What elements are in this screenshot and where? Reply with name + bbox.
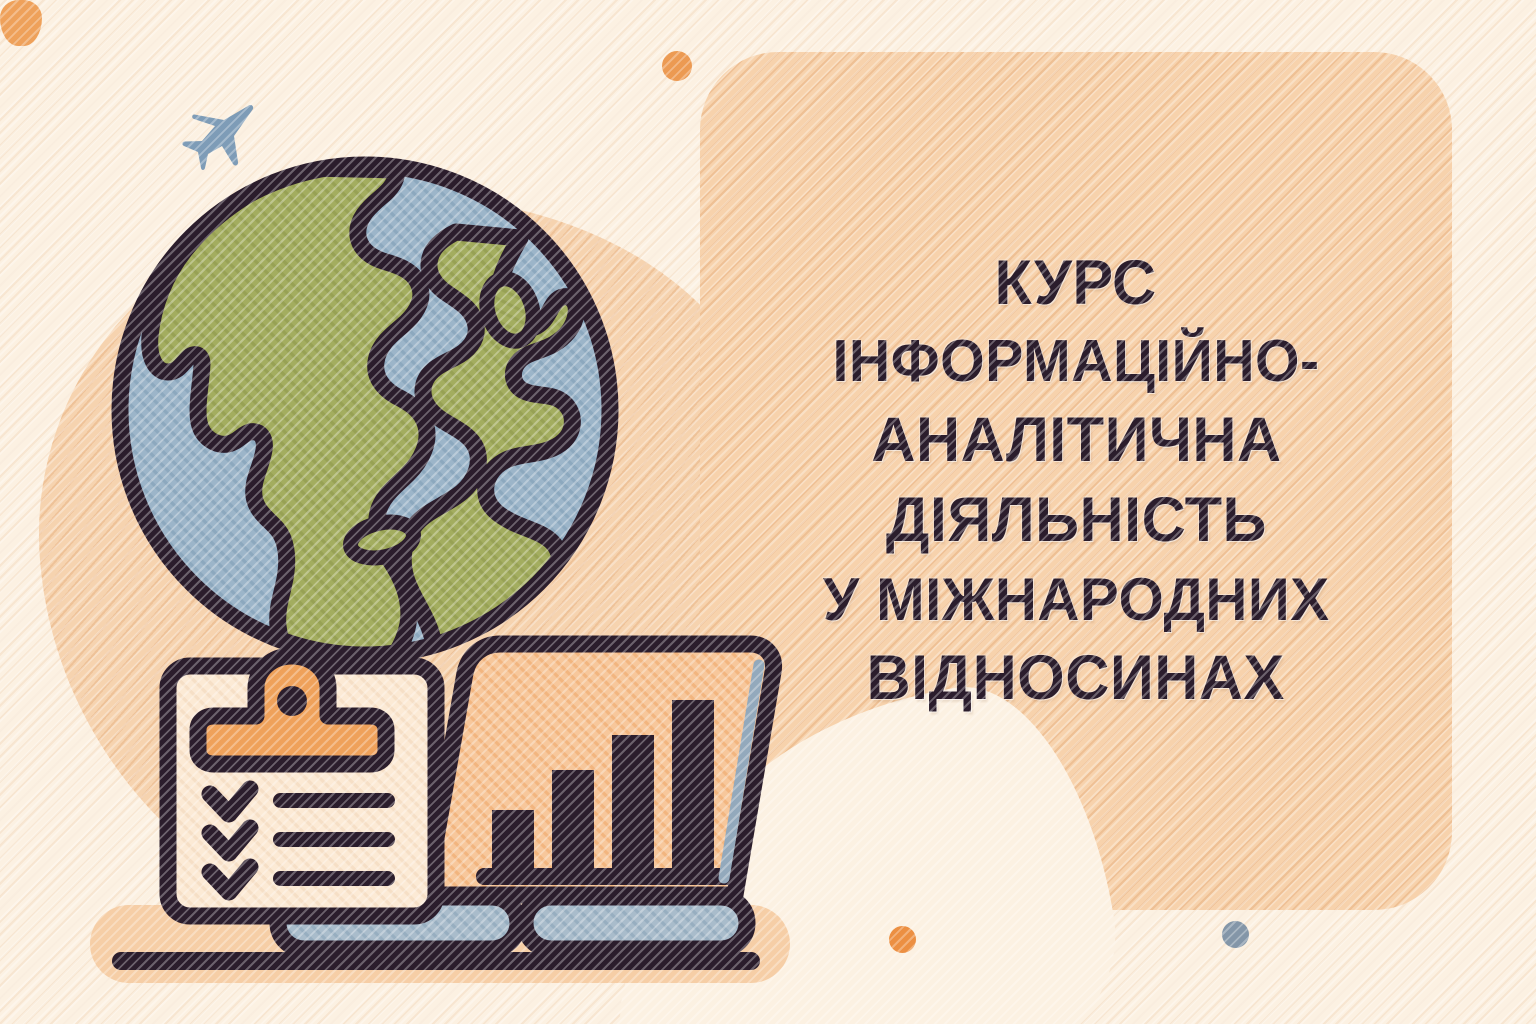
illustration-globe-laptop-clipboard <box>60 120 860 990</box>
chart-baseline <box>476 868 738 885</box>
laptop-screen-body <box>426 644 774 895</box>
clipboard-checklist <box>168 656 436 916</box>
clipboard-clip-hole <box>277 686 307 716</box>
checklist-line-3 <box>273 871 395 886</box>
checklist-line-1 <box>273 793 395 808</box>
title-line-2: ІНФОРМАЦІЙНО- <box>832 326 1319 398</box>
title-line-6: ВІДНОСИНАХ <box>867 640 1285 717</box>
checklist-line-2 <box>273 832 395 847</box>
poster-canvas: КУРС ІНФОРМАЦІЙНО- АНАЛІТИЧНА ДІЯЛЬНІСТЬ… <box>0 0 1536 1024</box>
title-line-4: ДІЯЛЬНІСТЬ <box>885 482 1266 559</box>
gray-dot-bottom-icon <box>1222 921 1249 948</box>
title-line-5: У МІЖНАРОДНИХ <box>823 563 1330 636</box>
bar-3 <box>612 735 654 872</box>
title-line-3: АНАЛІТИЧНА <box>871 402 1281 479</box>
laptop-foot-bar <box>112 952 760 970</box>
orange-dot-top-icon <box>662 51 692 81</box>
orange-dot-bottom-icon <box>889 926 916 953</box>
title-line-1: КУРС <box>995 245 1157 322</box>
bar-2 <box>552 770 594 872</box>
bar-1 <box>492 810 534 872</box>
globe-island-3 <box>347 517 417 564</box>
bar-4 <box>672 700 714 872</box>
orange-pin-icon <box>0 0 42 46</box>
